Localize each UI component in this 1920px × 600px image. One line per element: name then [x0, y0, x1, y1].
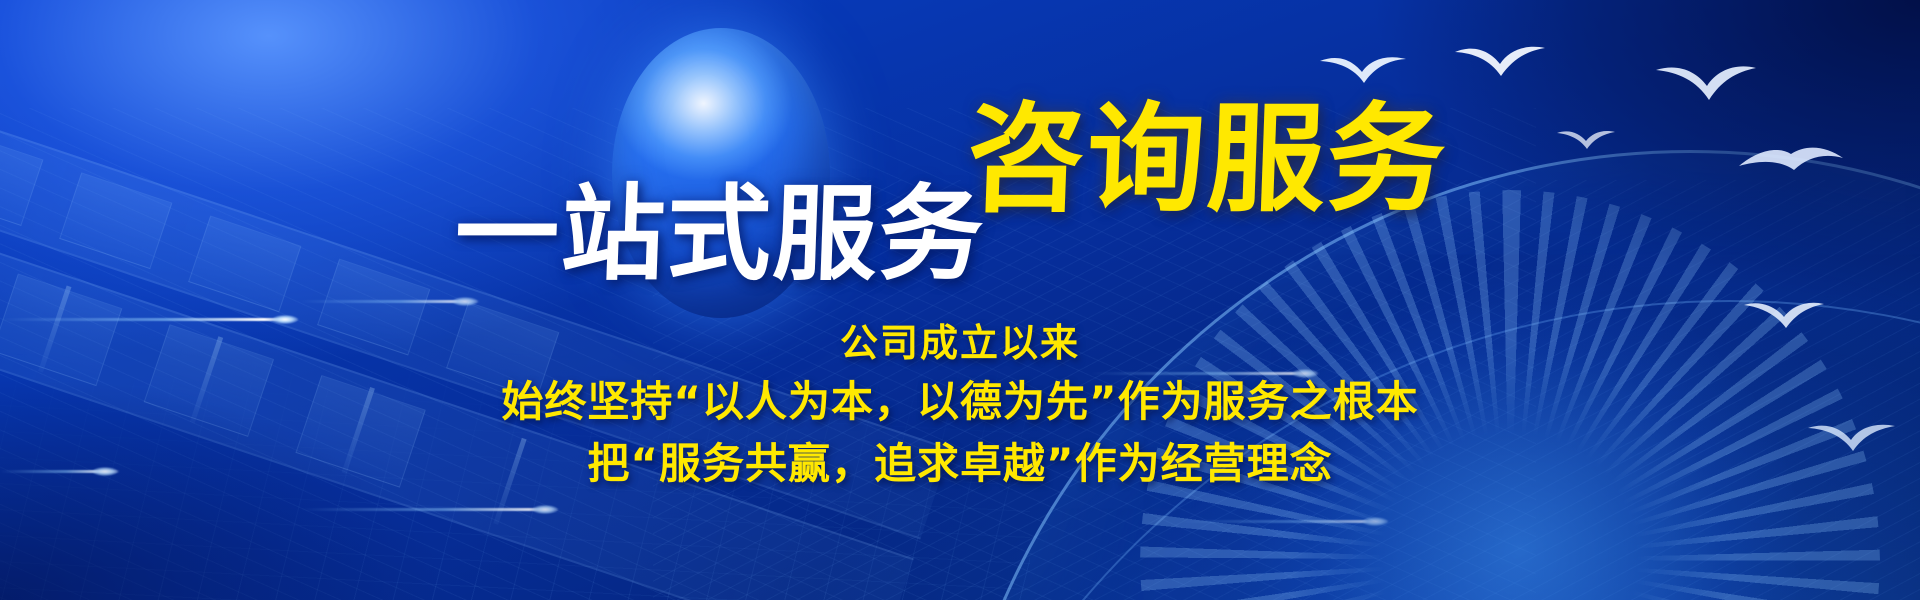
light-streak-icon	[0, 470, 120, 473]
promo-banner: 一站式服务 咨询服务 公司成立以来 始终坚持“以人为本，以德为先”作为服务之根本…	[0, 0, 1920, 600]
headline-group: 一站式服务 咨询服务	[0, 86, 1920, 204]
subtitle-line-3: 把“服务共赢，追求卓越”作为经营理念	[0, 436, 1920, 491]
seagull-icon	[1736, 140, 1846, 184]
fan-glow	[1240, 270, 1800, 600]
headline-accent: 咨询服务	[965, 100, 1449, 218]
film-strip-ribbon	[0, 0, 970, 600]
seagull-icon	[1318, 52, 1410, 88]
diagonal-hatch-pattern	[0, 108, 1536, 600]
light-streak-icon	[1090, 372, 1320, 375]
glossy-bubble-icon	[612, 28, 830, 318]
background-decoration	[0, 0, 1920, 600]
light-streak-icon	[1180, 520, 1390, 523]
headline-primary: 一站式服务	[453, 182, 987, 286]
seagull-icon	[1806, 420, 1898, 456]
subtitle-group: 公司成立以来 始终坚持“以人为本，以德为先”作为服务之根本 把“服务共赢，追求卓…	[0, 318, 1920, 491]
light-streak-icon	[0, 318, 300, 321]
seagull-icon	[1742, 298, 1826, 332]
sweeping-arc	[940, 150, 1920, 600]
light-streak-icon	[300, 300, 480, 303]
subtitle-line-2: 始终坚持“以人为本，以德为先”作为服务之根本	[0, 374, 1920, 429]
subtitle-line-1: 公司成立以来	[0, 318, 1920, 368]
light-streak-icon	[300, 508, 560, 511]
perspective-grid-floor	[0, 300, 1030, 600]
vignette-top-right	[920, 0, 1920, 430]
seagull-icon	[1452, 42, 1548, 80]
seagull-icon	[1556, 128, 1616, 152]
radial-fan-icon	[1140, 190, 1880, 600]
seagull-icon	[1654, 62, 1758, 104]
diagonal-hatch-pattern-right	[653, 180, 1920, 600]
sweeping-arc-outer	[880, 300, 1920, 600]
vignette-bottom-left	[0, 270, 760, 600]
